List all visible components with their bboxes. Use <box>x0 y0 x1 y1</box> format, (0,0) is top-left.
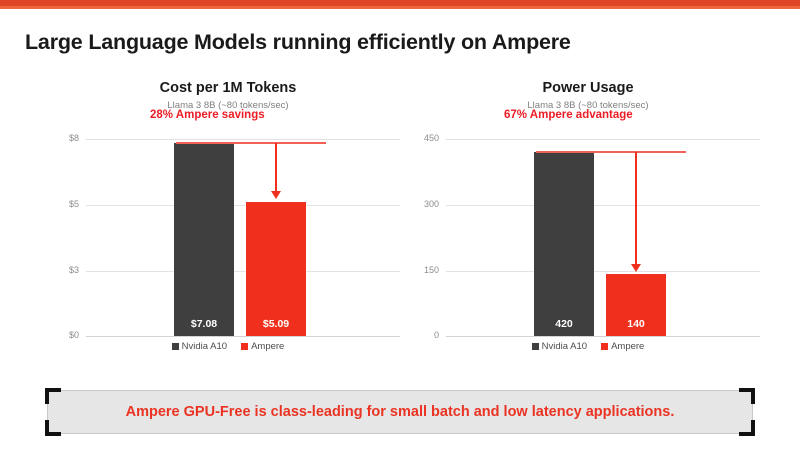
tick-label-power-2: 150 <box>408 265 439 275</box>
legend-item-nvidia-cost[interactable]: Nvidia A10 <box>172 341 227 352</box>
plot-area-cost: $8 $5 $3 $0 $7.08 $5.09 28% Ampere savin… <box>48 131 408 336</box>
gridline-row-power-3: 0 <box>408 336 768 337</box>
annotation-connector-cost <box>176 142 326 144</box>
legend-swatch-nvidia-icon <box>532 343 539 350</box>
legend-swatch-ampere-icon <box>601 343 608 350</box>
tick-label-power-0: 450 <box>408 133 439 143</box>
tick-label-cost-2: $3 <box>48 265 79 275</box>
annotation-arrow-head-cost <box>271 191 281 199</box>
slide-title: Large Language Models running efficientl… <box>25 30 571 55</box>
tick-label-power-1: 300 <box>408 199 439 209</box>
legend-item-ampere-cost[interactable]: Ampere <box>241 341 284 352</box>
bar-value-cost-nvidia: $7.08 <box>174 318 234 330</box>
bar-cost-nvidia[interactable]: $7.08 <box>174 143 234 336</box>
chart-title-power: Power Usage <box>408 78 768 96</box>
callout-text: Ampere GPU-Free is class-leading for sma… <box>126 404 675 420</box>
bar-power-nvidia[interactable]: 420 <box>534 152 594 336</box>
selection-corner-top-left <box>45 388 61 404</box>
gridline-power-baseline <box>446 336 760 337</box>
legend-swatch-ampere-icon <box>241 343 248 350</box>
selection-corner-top-right <box>739 388 755 404</box>
gridline-cost-baseline <box>86 336 400 337</box>
selection-corner-bottom-left <box>45 420 61 436</box>
annotation-arrow-line-power <box>635 152 637 264</box>
legend-cost: Nvidia A10 Ampere <box>48 341 408 352</box>
plot-area-power: 450 300 150 0 420 140 67% Ampere advanta… <box>408 131 768 336</box>
callout-box[interactable]: Ampere GPU-Free is class-leading for sma… <box>47 390 753 434</box>
annotation-arrow-head-power <box>631 264 641 272</box>
tick-label-cost-0: $8 <box>48 133 79 143</box>
bar-value-power-ampere: 140 <box>606 318 666 330</box>
legend-label-ampere-cost: Ampere <box>251 341 284 352</box>
selection-corner-bottom-right <box>739 420 755 436</box>
annotation-power-advantage: 67% Ampere advantage <box>504 109 633 121</box>
annotation-cost-savings: 28% Ampere savings <box>150 109 265 121</box>
legend-label-ampere-power: Ampere <box>611 341 644 352</box>
tick-label-power-3: 0 <box>408 330 439 340</box>
legend-label-nvidia-power: Nvidia A10 <box>542 341 587 352</box>
tick-label-cost-1: $5 <box>48 199 79 209</box>
top-accent-bar <box>0 0 800 9</box>
tick-label-cost-3: $0 <box>48 330 79 340</box>
legend-label-nvidia-cost: Nvidia A10 <box>182 341 227 352</box>
bar-power-ampere[interactable]: 140 <box>606 274 666 336</box>
gridline-row-cost-3: $0 <box>48 336 408 337</box>
annotation-connector-power <box>536 151 686 153</box>
legend-item-ampere-power[interactable]: Ampere <box>601 341 644 352</box>
legend-item-nvidia-power[interactable]: Nvidia A10 <box>532 341 587 352</box>
legend-swatch-nvidia-icon <box>172 343 179 350</box>
bars-container-power: 420 140 67% Ampere advantage <box>446 131 760 336</box>
legend-power: Nvidia A10 Ampere <box>408 341 768 352</box>
chart-title-cost: Cost per 1M Tokens <box>48 78 408 96</box>
chart-power-usage: Power Usage Llama 3 8B (~80 tokens/sec) … <box>408 78 768 368</box>
chart-cost-per-1m-tokens: Cost per 1M Tokens Llama 3 8B (~80 token… <box>48 78 408 368</box>
bars-container-cost: $7.08 $5.09 28% Ampere savings <box>86 131 400 336</box>
bar-cost-ampere[interactable]: $5.09 <box>246 202 306 336</box>
accent-bar-light <box>0 6 800 9</box>
bar-value-power-nvidia: 420 <box>534 318 594 330</box>
annotation-arrow-line-cost <box>275 143 277 191</box>
bar-value-cost-ampere: $5.09 <box>246 318 306 330</box>
